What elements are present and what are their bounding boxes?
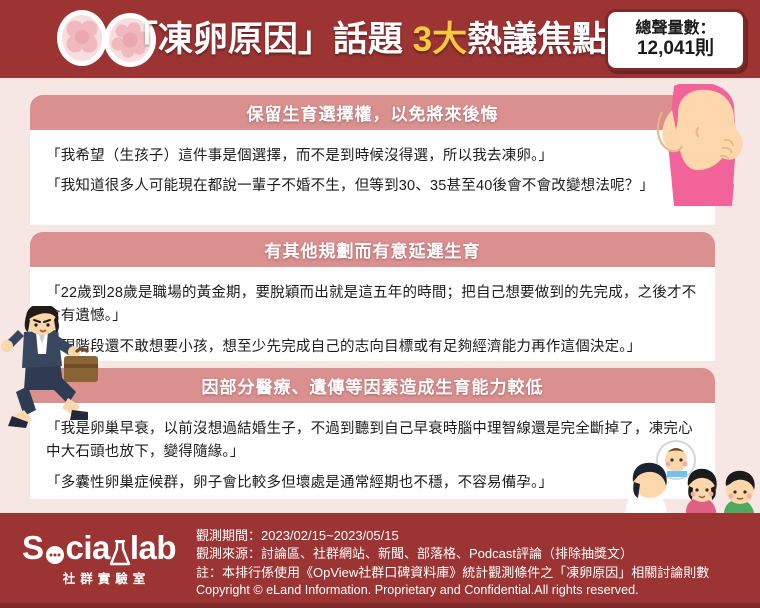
topic-section-3: 因部分醫療、遺傳等因素造成生育能力較低 「我是卵巢早衰，以前沒想過結婚生子，不過… xyxy=(30,368,715,499)
logo-lab: lab xyxy=(130,531,176,564)
total-volume-label: 總聲量數： xyxy=(635,20,715,38)
footer-copyright-line: Copyright © eLand Information. Proprieta… xyxy=(196,582,741,600)
page-title-wrap: 「凍卵原因」話題 3大熱議焦點 xyxy=(120,0,610,78)
page-title-prefix: 「凍卵原因」話題 xyxy=(123,20,413,59)
page-title: 「凍卵原因」話題 3大熱議焦點 xyxy=(123,22,607,57)
section-3-body: 「我是卵巢早衰，以前沒想過結婚生子，不過到聽到自己早衰時腦中理智線還是完全斷掉了… xyxy=(30,403,715,499)
section-2-body: 「22歲到28歲是職場的黃金期，要脫穎而出就是這五年的時間；把自己想要做到的先完… xyxy=(30,267,715,361)
section-3-title: 因部分醫療、遺傳等因素造成生育能力較低 xyxy=(202,373,544,398)
footer-note-line: 註：本排行係使用《OpView社群口碑資料庫》統計觀測條件之「凍卵原因」相關討論… xyxy=(196,564,741,582)
total-volume-badge: 總聲量數： 12,041則 xyxy=(605,9,746,71)
total-volume-value: 12,041則 xyxy=(637,38,714,60)
topic-section-2: 有其他規劃而有意延遲生育 「22歲到28歲是職場的黃金期，要脫穎而出就是這五年的… xyxy=(30,232,715,361)
sociallab-logo-subtitle: 社群實驗室 xyxy=(22,568,187,587)
section-3-quote-2: 「多囊性卵巢症候群，卵子會比較多但壞處是通常經期也不穩，不容易備孕。」 xyxy=(46,472,699,495)
speech-bubble-icon xyxy=(44,539,66,561)
header-bar: 「凍卵原因」話題 3大熱議焦點 總聲量數： 12,041則 xyxy=(0,0,760,78)
footer-notes: 觀測期間：2023/02/15~2023/05/15 觀測來源：討論區、社群網站… xyxy=(196,527,741,600)
running-businesswoman-illustration xyxy=(0,306,110,428)
sociallab-logo-text: S cia lab xyxy=(22,531,187,564)
section-2-header: 有其他規劃而有意延遲生育 xyxy=(30,232,715,267)
section-1-title: 保留生育選擇權，以免將來後悔 xyxy=(247,100,499,125)
section-3-quote-1: 「我是卵巢早衰，以前沒想過結婚生子，不過到聽到自己早衰時腦中理智線還是完全斷掉了… xyxy=(46,418,699,465)
section-2-title: 有其他規劃而有意延遲生育 xyxy=(265,237,481,262)
section-1-quote-2: 「我知道很多人可能現在都說一輩子不婚不生，但等到30、35甚至40後會不會改變想… xyxy=(46,175,699,198)
page-title-suffix: 熱議焦點 xyxy=(467,20,607,59)
topic-section-1: 保留生育選擇權，以免將來後悔 「我希望（生孩子）這件事是個選擇，而不是到時候沒得… xyxy=(30,95,715,225)
section-1-body: 「我希望（生孩子）這件事是個選擇，而不是到時候沒得選，所以我去凍卵。」 「我知道… xyxy=(30,130,715,225)
flask-icon xyxy=(109,538,131,564)
section-2-quote-2: 「現階段還不敢想要小孩，想至少先完成自己的志向目標或有足夠經濟能力再作這個決定。… xyxy=(46,336,699,359)
section-2-quote-1: 「22歲到28歲是職場的黃金期，要脫穎而出就是這五年的時間；把自己想要做到的先完… xyxy=(46,282,699,329)
footer-accent-strip xyxy=(0,603,760,608)
logo-s: S xyxy=(22,531,44,564)
pregnant-woman-illustration xyxy=(648,84,752,209)
sociallab-logo: S cia lab 社群實驗室 xyxy=(22,531,187,593)
infographic-page: 「凍卵原因」話題 3大熱議焦點 總聲量數： 12,041則 保留生育選擇權，以免… xyxy=(0,0,760,608)
section-3-header: 因部分醫療、遺傳等因素造成生育能力較低 xyxy=(30,368,715,403)
logo-cia: cia xyxy=(66,531,110,564)
footer-period-line: 觀測期間：2023/02/15~2023/05/15 xyxy=(196,527,741,545)
footer-source-line: 觀測來源：討論區、社群網站、新聞、部落格、Podcast評論（排除抽獎文） xyxy=(196,545,741,563)
section-1-quote-1: 「我希望（生孩子）這件事是個選擇，而不是到時候沒得選，所以我去凍卵。」 xyxy=(46,145,699,168)
footer-bar: S cia lab 社群實驗室 xyxy=(0,513,760,608)
section-1-header: 保留生育選擇權，以免將來後悔 xyxy=(30,95,715,130)
page-title-accent: 3大 xyxy=(413,20,467,59)
